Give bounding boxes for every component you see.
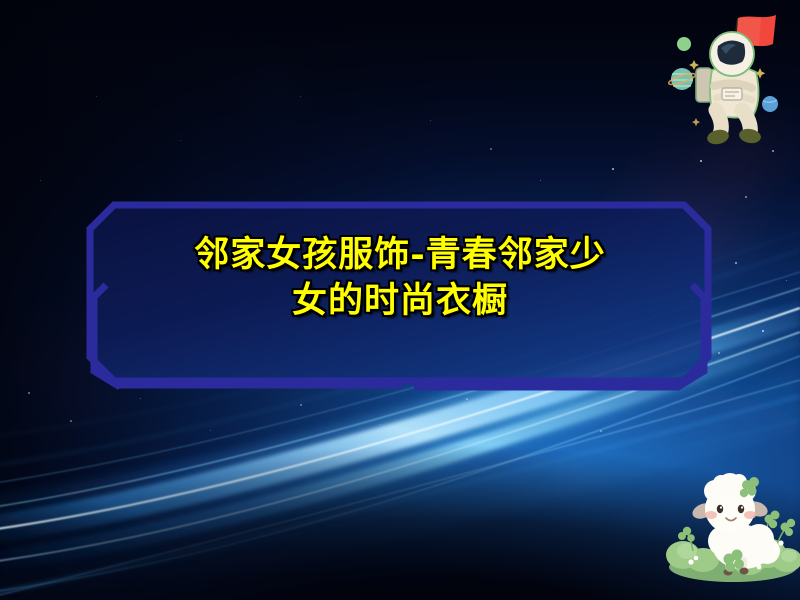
sheep-eye bbox=[738, 505, 744, 513]
sheep-cheek bbox=[744, 511, 756, 519]
astronaut-illustration bbox=[668, 6, 800, 146]
sheep-eye bbox=[717, 505, 723, 513]
astronaut-boot bbox=[738, 127, 762, 145]
striped-teal-planet-icon bbox=[668, 68, 696, 90]
chest-control-panel bbox=[722, 88, 742, 100]
sheep-illustration bbox=[663, 455, 800, 585]
page-title: 邻家女孩服饰-青春邻家少 女的时尚衣橱 bbox=[110, 232, 690, 323]
title-slide: 邻家女孩服饰-青春邻家少 女的时尚衣橱 bbox=[0, 0, 800, 600]
sheep-cheek bbox=[705, 511, 717, 519]
blue-planet-icon bbox=[762, 96, 778, 112]
green-planet-icon bbox=[677, 37, 691, 51]
sparkle-icon bbox=[692, 118, 700, 126]
